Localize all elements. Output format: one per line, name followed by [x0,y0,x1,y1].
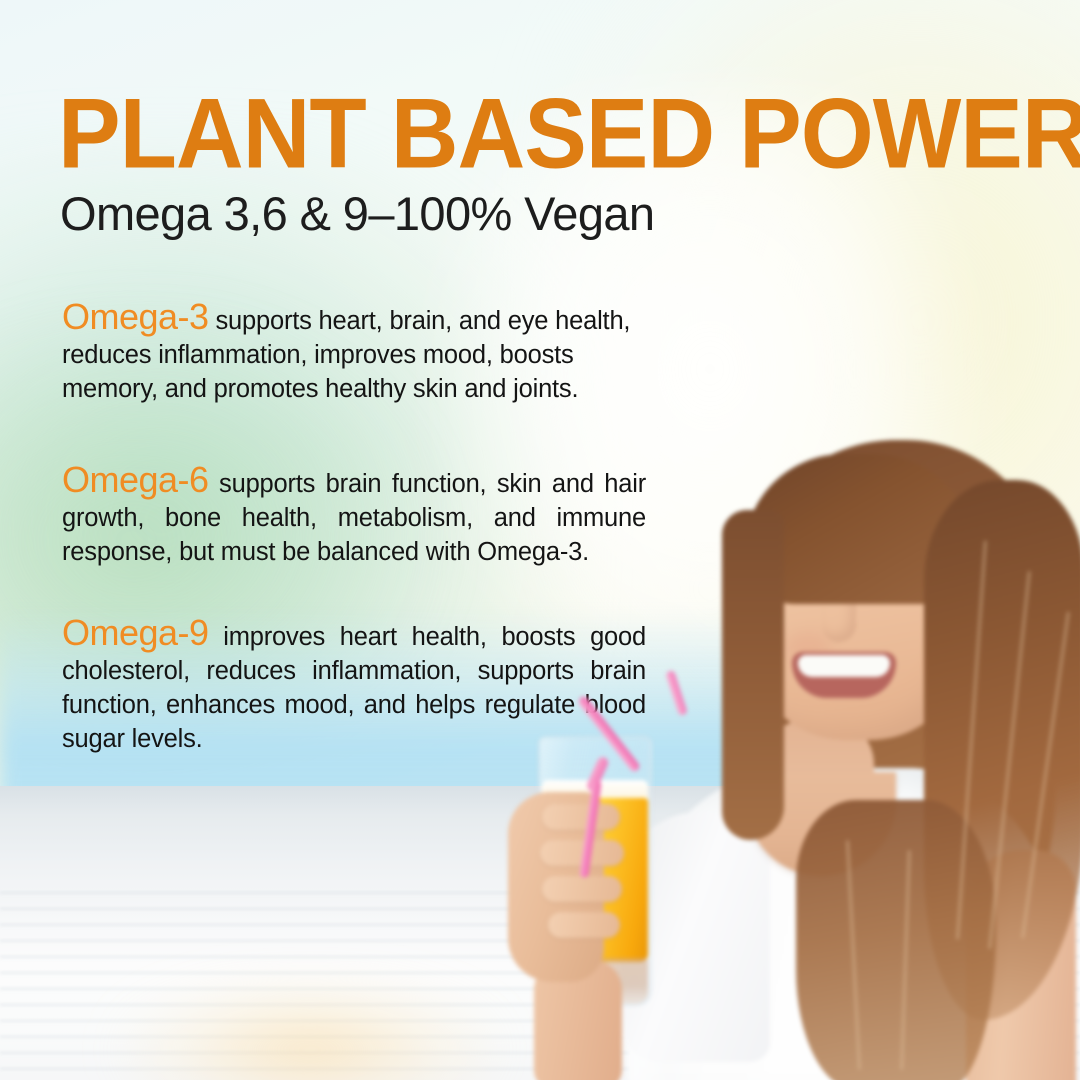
omega-3-block: Omega-3 supports heart, brain, and eye h… [62,300,646,406]
omega-9-label: Omega-9 [62,612,209,653]
hair-left [722,510,784,840]
table-warm-reflection [120,980,500,1080]
omega-3-label: Omega-3 [62,296,209,337]
model-photo [500,420,1080,1080]
page-subtitle: Omega 3,6 & 9–100% Vegan [60,186,654,242]
nose [822,598,856,642]
teeth [798,655,890,677]
drinking-straw-tip [665,670,688,717]
omega-6-label: Omega-6 [62,459,209,500]
finger [548,912,620,938]
page-title: PLANT BASED POWER [58,82,976,186]
smiling-mouth [792,652,896,698]
poster-canvas: PLANT BASED POWER Omega 3,6 & 9–100% Veg… [0,0,1080,1080]
finger [542,876,622,902]
hair-front-strands [796,800,996,1080]
finger [542,804,620,830]
